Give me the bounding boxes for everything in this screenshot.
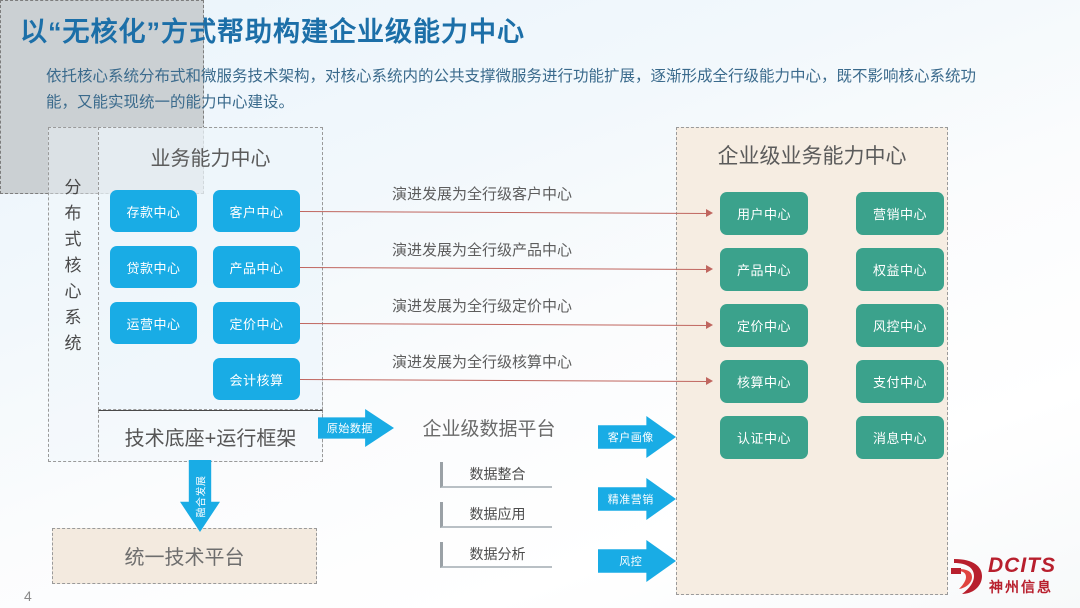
ent-box-left[interactable]: 定价中心 — [720, 304, 808, 347]
bcc-box-right[interactable]: 产品中心 — [213, 246, 300, 288]
evolution-arrow-line — [300, 379, 708, 382]
data-platform-title: 企业级数据平台 — [388, 414, 590, 441]
core-label-char: 核 — [52, 253, 94, 279]
data-platform-item[interactable]: 数据分析 — [440, 542, 552, 568]
evolution-label: 演进发展为全行级产品中心 — [392, 239, 572, 260]
ent-box-right[interactable]: 风控中心 — [856, 304, 944, 347]
output-arrow: 精准营销 — [598, 478, 676, 520]
merge-dev-arrow: 融合发展 — [180, 460, 220, 532]
data-platform-item[interactable]: 数据应用 — [440, 502, 552, 528]
logo-wordmark: DCITS — [988, 554, 1056, 578]
logo-cn-name: 神州信息 — [989, 577, 1053, 597]
core-label-char: 心 — [52, 279, 94, 305]
core-label-char: 布 — [52, 201, 94, 227]
core-label-char: 式 — [52, 227, 94, 253]
evolution-arrow-line — [300, 211, 708, 214]
bcc-box-left[interactable]: 贷款中心 — [110, 246, 197, 288]
ent-box-right[interactable]: 权益中心 — [856, 248, 944, 291]
evolution-label: 演进发展为全行级客户中心 — [392, 183, 572, 204]
distributed-core-label: 分布式核心系统 — [52, 175, 94, 357]
bcc-box-right[interactable]: 客户中心 — [213, 190, 300, 232]
data-platform-item[interactable]: 数据整合 — [440, 462, 552, 488]
page-number: 4 — [24, 588, 32, 604]
enterprise-title: 企业级业务能力中心 — [676, 140, 948, 170]
bcc-box-right[interactable]: 定价中心 — [213, 302, 300, 344]
dcits-mark-icon — [948, 555, 986, 597]
output-arrow-label: 精准营销 — [608, 491, 654, 507]
bcc-title: 业务能力中心 — [98, 142, 323, 171]
ent-box-right[interactable]: 支付中心 — [856, 360, 944, 403]
core-label-char: 系 — [52, 305, 94, 331]
evolution-arrow-head — [706, 321, 713, 329]
evolution-arrow-head — [706, 265, 713, 273]
dcits-logo: DCITS 神州信息 — [948, 552, 1072, 598]
output-arrow: 客户画像 — [598, 416, 676, 458]
ent-box-left[interactable]: 用户中心 — [720, 192, 808, 235]
evolution-label: 演进发展为全行级定价中心 — [392, 295, 572, 316]
core-label-char: 统 — [52, 331, 94, 357]
evolution-arrow-head — [706, 377, 713, 385]
unified-tech-platform-title: 统一技术平台 — [52, 541, 317, 570]
raw-data-arrow-label: 原始数据 — [327, 420, 373, 436]
merge-dev-arrow-label: 融合发展 — [193, 475, 208, 517]
tech-base-label: 技术底座+运行框架 — [98, 422, 323, 451]
evolution-label: 演进发展为全行级核算中心 — [392, 351, 572, 372]
ent-box-left[interactable]: 认证中心 — [720, 416, 808, 459]
evolution-arrow-line — [300, 267, 708, 270]
ent-box-right[interactable]: 消息中心 — [856, 416, 944, 459]
bcc-box-left[interactable]: 运营中心 — [110, 302, 197, 344]
ent-box-right[interactable]: 营销中心 — [856, 192, 944, 235]
page-subtitle: 依托核心系统分布式和微服务技术架构，对核心系统内的公共支撑微服务进行功能扩展，逐… — [46, 64, 1006, 116]
output-arrow: 风控 — [598, 540, 676, 582]
bcc-box-left[interactable]: 存款中心 — [110, 190, 197, 232]
bcc-box-right[interactable]: 会计核算 — [213, 358, 300, 400]
raw-data-arrow: 原始数据 — [318, 409, 394, 447]
output-arrow-label: 客户画像 — [608, 429, 654, 445]
evolution-arrow-head — [706, 209, 713, 217]
ent-box-left[interactable]: 产品中心 — [720, 248, 808, 291]
output-arrow-label: 风控 — [619, 553, 642, 569]
page-title: 以“无核化”方式帮助构建企业级能力中心 — [20, 10, 525, 49]
evolution-arrow-line — [300, 323, 708, 326]
ent-box-left[interactable]: 核算中心 — [720, 360, 808, 403]
slide-canvas: 以“无核化”方式帮助构建企业级能力中心 依托核心系统分布式和微服务技术架构，对核… — [0, 0, 1080, 608]
core-label-char: 分 — [52, 175, 94, 201]
